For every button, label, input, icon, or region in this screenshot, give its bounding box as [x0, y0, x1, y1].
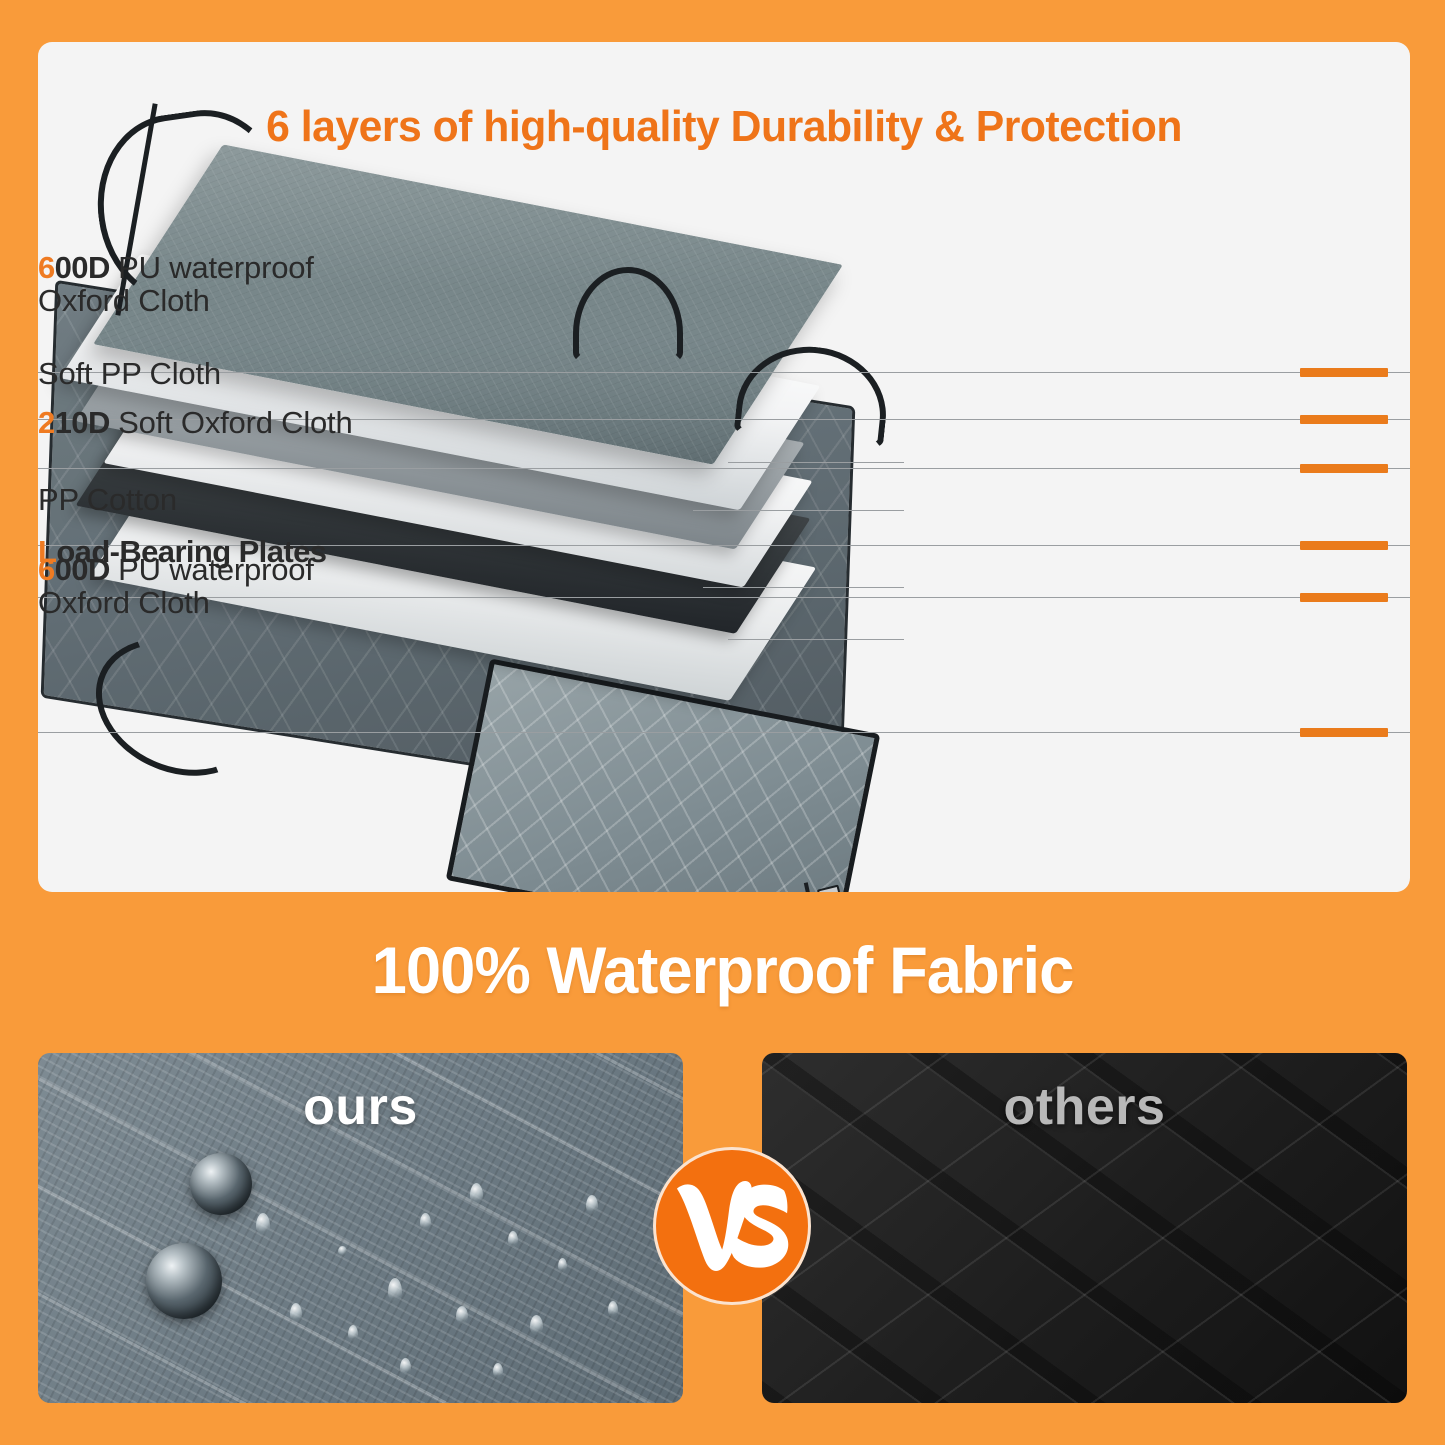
- callout-rule-3: [38, 468, 1410, 469]
- water-bead-large-2: [146, 1243, 222, 1319]
- layer-label-4: PP Cotton: [38, 484, 177, 517]
- leader-line-2: [728, 462, 904, 463]
- callout-rule-6: [38, 732, 1410, 733]
- banner-title: 100% Waterproof Fabric: [372, 932, 1074, 1008]
- product-exploded-view-illustration: [38, 42, 1410, 892]
- water-droplet-7: [470, 1183, 483, 1204]
- water-bead-large-1: [190, 1153, 252, 1215]
- layer-label-2: Soft PP Cloth: [38, 358, 221, 391]
- water-droplet-12: [586, 1195, 598, 1214]
- panel-label-others: others: [762, 1077, 1407, 1137]
- layer-label-1: 600D PU waterproofOxford Cloth: [38, 252, 314, 318]
- comparison-panel-others: others: [762, 1053, 1407, 1403]
- water-droplet-15: [608, 1301, 618, 1317]
- water-droplet-10: [530, 1315, 543, 1335]
- callout-end-cap-3: [1300, 464, 1388, 473]
- water-droplet-11: [558, 1258, 567, 1272]
- layer-label-3: 210D Soft Oxford Cloth: [38, 407, 353, 440]
- waterproof-banner: 100% Waterproof Fabric: [0, 900, 1445, 1040]
- comparison-panel-ours: ours: [38, 1053, 683, 1403]
- page-title: 6 layers of high-quality Durability & Pr…: [59, 102, 1390, 152]
- layer-label-6: 600D PU waterproofOxford Cloth: [38, 554, 314, 620]
- water-droplet-13: [400, 1358, 411, 1375]
- water-droplet-8: [508, 1231, 518, 1247]
- callout-rule-1: [38, 372, 1410, 373]
- water-droplet-1: [256, 1213, 270, 1235]
- callout-end-cap-1: [1300, 368, 1388, 377]
- leader-line-4: [703, 587, 904, 588]
- water-droplet-5: [388, 1278, 402, 1302]
- callout-end-cap-4: [1300, 541, 1388, 550]
- water-droplet-4: [338, 1246, 347, 1255]
- panel-label-ours: ours: [38, 1077, 683, 1137]
- water-droplet-3: [348, 1325, 358, 1341]
- callout-end-cap-6: [1300, 728, 1388, 737]
- layers-info-card: 6 layers of high-quality Durability & Pr…: [38, 42, 1410, 892]
- water-droplet-9: [456, 1306, 468, 1324]
- callout-end-cap-5: [1300, 593, 1388, 602]
- vs-icon: [673, 1174, 791, 1278]
- callout-end-cap-2: [1300, 415, 1388, 424]
- leader-line-5: [728, 639, 904, 640]
- water-droplet-6: [420, 1213, 431, 1230]
- water-droplet-14: [493, 1363, 503, 1378]
- vs-badge: [653, 1147, 811, 1305]
- water-droplet-2: [290, 1303, 302, 1322]
- leader-line-3: [693, 510, 904, 511]
